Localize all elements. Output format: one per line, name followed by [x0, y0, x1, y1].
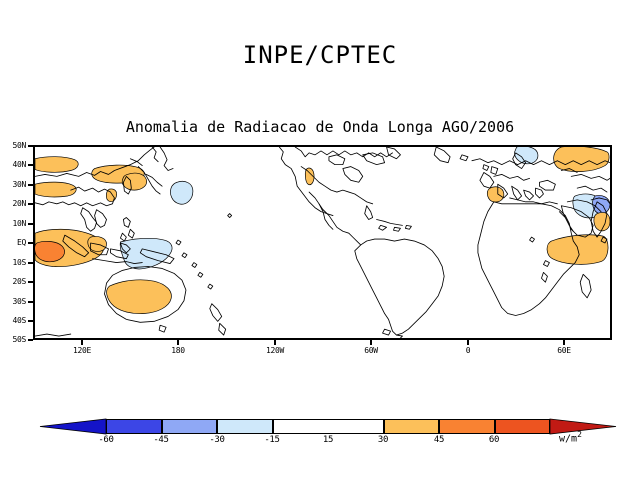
x-axis-label-180: 180 [158, 347, 198, 355]
colorbar-cell-30-45[interactable] [439, 419, 495, 434]
x-tick [274, 340, 276, 345]
colorbar-label-n15: -15 [252, 436, 292, 445]
y-axis-label-20n: 20N [0, 200, 26, 208]
x-axis-label-60w: 60W [351, 347, 391, 355]
y-tick [28, 281, 33, 283]
y-axis-label-20s: 20S [0, 278, 26, 286]
colorbar-cell-n30-n15[interactable] [217, 419, 273, 434]
y-axis-label-40s: 40S [0, 317, 26, 325]
map-plot-area [33, 145, 612, 340]
y-axis-label-40n: 40N [0, 161, 26, 169]
anomaly-region-northwest-pacific [170, 181, 192, 204]
y-tick [28, 320, 33, 322]
y-tick [28, 164, 33, 166]
chart-title: Anomalia de Radiacao de Onda Longa AGO/2… [0, 118, 640, 136]
colorbar-label-60: 60 [474, 436, 514, 445]
colorbar-label-15: 15 [308, 436, 348, 445]
y-axis-label-30n: 30N [0, 181, 26, 189]
colorbar-cell-n15-15[interactable] [273, 419, 384, 434]
anomaly-region-northwest-corner [35, 157, 78, 173]
y-tick [28, 223, 33, 225]
figure-page: INPE/CPTEC Anomalia de Radiacao de Onda … [0, 0, 640, 494]
page-title: INPE/CPTEC [0, 41, 640, 69]
anomaly-region-equatorial-pacific [120, 238, 172, 269]
anomaly-region-morocco [487, 187, 504, 202]
world-map-svg [35, 147, 610, 338]
y-axis-label-10s: 10S [0, 259, 26, 267]
x-axis-label-120e: 120E [62, 347, 102, 355]
y-tick [28, 262, 33, 264]
anomaly-region-west-band [35, 182, 76, 197]
x-tick [370, 340, 372, 345]
y-tick [28, 145, 33, 147]
y-axis-label-30s: 30S [0, 298, 26, 306]
y-axis-label-10n: 10N [0, 220, 26, 228]
y-tick [28, 339, 33, 341]
anomaly-shading-layer [35, 147, 610, 314]
anomaly-region-siberia [554, 147, 609, 172]
colorbar-cell-15-30[interactable] [384, 419, 440, 434]
anomaly-region-southeast-offshore [594, 212, 610, 230]
colorbar[interactable] [106, 419, 550, 434]
colorbar-extend-low-arrow [40, 419, 106, 434]
map-clip [35, 147, 610, 338]
colorbar-unit-label: w/m2 [559, 430, 582, 444]
colorbar-label-n30: -30 [197, 436, 237, 445]
y-tick [28, 203, 33, 205]
x-axis-label-0: 0 [448, 347, 488, 355]
colorbar-cell-n60-n45[interactable] [106, 419, 162, 434]
y-tick [28, 301, 33, 303]
x-tick [563, 340, 565, 345]
colorbar-cell-45-60[interactable] [495, 419, 551, 434]
y-axis-label-eq: EQ [0, 239, 26, 247]
colorbar-label-45: 45 [419, 436, 459, 445]
y-tick [28, 184, 33, 186]
anomaly-region-indonesia-core [35, 241, 65, 261]
colorbar-label-n60: -60 [86, 436, 126, 445]
unit-exponent: 2 [577, 430, 582, 439]
x-tick [177, 340, 179, 345]
colorbar-cell-n45-n30[interactable] [162, 419, 218, 434]
anomaly-region-japan [122, 173, 146, 190]
x-tick [467, 340, 469, 345]
y-axis-label-50n: 50N [0, 142, 26, 150]
colorbar-label-30: 30 [363, 436, 403, 445]
colorbar-label-n45: -45 [141, 436, 181, 445]
x-tick [81, 340, 83, 345]
y-axis-label-50s: 50S [0, 336, 26, 344]
y-tick [28, 242, 33, 244]
anomaly-region-australia [107, 280, 172, 314]
x-axis-label-60e: 60E [544, 347, 584, 355]
unit-text: w/m [559, 433, 577, 444]
x-axis-label-120w: 120W [255, 347, 295, 355]
